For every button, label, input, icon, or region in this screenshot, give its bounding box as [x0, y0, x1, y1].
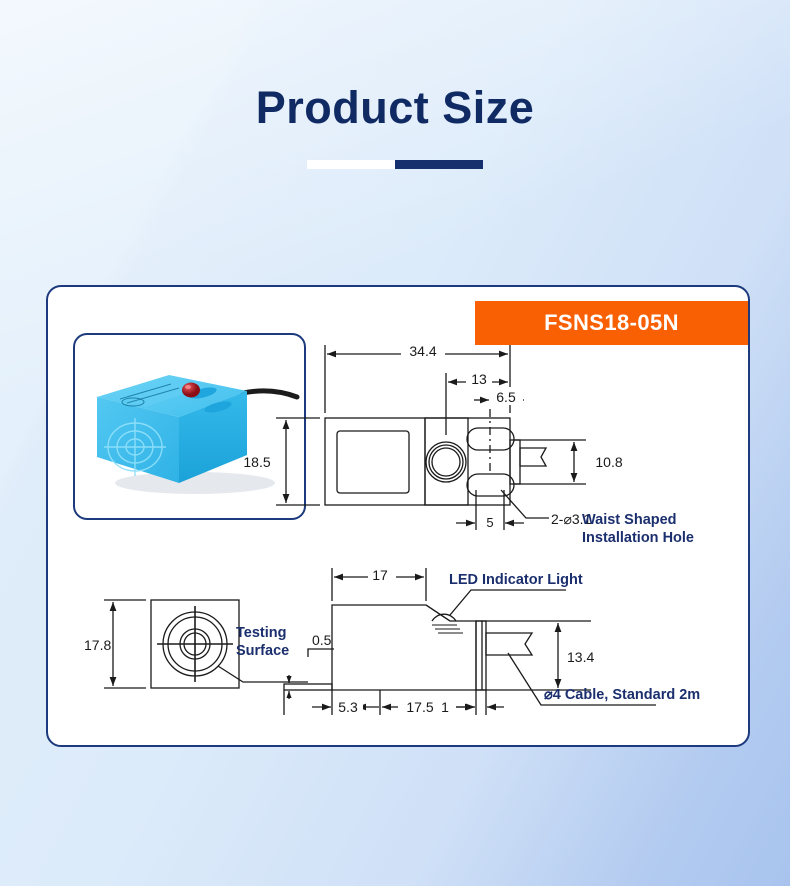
- divider-segment-dark: [395, 160, 483, 169]
- dim-front-height: 17.8: [84, 637, 111, 653]
- dim-body: 17.5: [406, 699, 433, 715]
- dim-nose: 5.3: [338, 699, 358, 715]
- dim-hole-pitch: 5: [486, 515, 493, 530]
- dim-hole-offset: 6.5: [496, 389, 516, 405]
- label-led-indicator: LED Indicator Light: [449, 572, 583, 588]
- label-testing-surface-line1: Testing: [236, 625, 286, 641]
- dimension-text-group: 34.4 13 6.5 18.5 10.8 5 2-⌀3.1 17.8 17 0…: [84, 341, 623, 715]
- label-testing-surface-line2: Surface: [236, 643, 289, 659]
- dim-cable-end-width: 10.8: [595, 454, 622, 470]
- dim-top-flat: 17: [372, 567, 388, 583]
- model-badge: FSNS18-05N: [475, 301, 748, 345]
- label-waist-hole-line1: Waist Shaped: [582, 512, 677, 528]
- model-badge-label: FSNS18-05N: [544, 310, 679, 336]
- page-title: Product Size: [0, 82, 790, 134]
- dim-face-plate: 0.5: [312, 632, 332, 648]
- label-waist-hole-line2: Installation Hole: [582, 530, 694, 546]
- title-divider: [307, 160, 483, 169]
- dim-hole-center: 13: [471, 371, 487, 387]
- engineering-drawings: 34.4 13 6.5 18.5 10.8 5 2-⌀3.1 17.8 17 0…: [46, 285, 746, 743]
- dim-top-length: 34.4: [409, 343, 436, 359]
- label-cable: ⌀4 Cable, Standard 2m: [544, 687, 700, 703]
- dim-side-height: 13.4: [567, 649, 594, 665]
- divider-segment-light: [307, 160, 395, 169]
- callout-label-group: Waist Shaped Installation Hole Testing S…: [236, 512, 700, 703]
- dim-flange: 1: [441, 699, 449, 715]
- dim-body-width: 18.5: [243, 454, 270, 470]
